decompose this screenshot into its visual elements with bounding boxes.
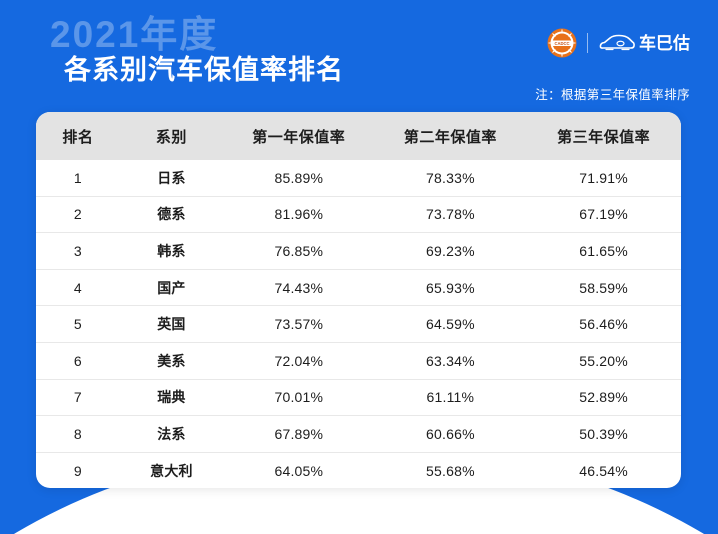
- cell-rank: 1: [36, 160, 120, 196]
- cell-year3: 50.39%: [526, 416, 681, 453]
- cell-rank: 8: [36, 416, 120, 453]
- ghost-year-label: 2021年度: [50, 16, 218, 53]
- column-header-brand: 系别: [120, 112, 223, 160]
- table-header-row: 排名 系别 第一年保值率 第二年保值率 第三年保值率: [36, 112, 681, 160]
- table-row: 6 美系 72.04% 63.34% 55.20%: [36, 342, 681, 379]
- cell-brand: 日系: [120, 160, 223, 196]
- cell-rank: 4: [36, 269, 120, 306]
- footnote-label: 注：根据第三年保值率排序: [535, 84, 690, 103]
- logo-divider: [587, 33, 588, 53]
- page-title: 各系别汽车保值率排名: [64, 57, 344, 84]
- column-header-year1: 第一年保值率: [223, 112, 375, 160]
- cell-year3: 58.59%: [526, 269, 681, 306]
- table-row: 7 瑞典 70.01% 61.11% 52.89%: [36, 379, 681, 416]
- ranking-table: 排名 系别 第一年保值率 第二年保值率 第三年保值率 1 日系 85.89% 7…: [36, 112, 681, 488]
- cell-year1: 64.05%: [223, 452, 375, 488]
- brand-name-label: 车巳估: [639, 35, 690, 52]
- column-header-rank: 排名: [36, 112, 120, 160]
- cell-brand: 德系: [120, 196, 223, 233]
- cell-year1: 76.85%: [223, 233, 375, 270]
- cell-year3: 55.20%: [526, 342, 681, 379]
- ranking-card: 排名 系别 第一年保值率 第二年保值率 第三年保值率 1 日系 85.89% 7…: [36, 112, 681, 488]
- cell-rank: 6: [36, 342, 120, 379]
- cell-year1: 70.01%: [223, 379, 375, 416]
- cell-year3: 61.65%: [526, 233, 681, 270]
- cell-year3: 67.19%: [526, 196, 681, 233]
- cell-year1: 73.57%: [223, 306, 375, 343]
- table-row: 2 德系 81.96% 73.78% 67.19%: [36, 196, 681, 233]
- cell-year2: 65.93%: [375, 269, 527, 306]
- table-row: 1 日系 85.89% 78.33% 71.91%: [36, 160, 681, 196]
- poster-root: 2021年度 各系别汽车保值率排名: [0, 0, 718, 534]
- table-row: 5 英国 73.57% 64.59% 56.46%: [36, 306, 681, 343]
- cell-year2: 69.23%: [375, 233, 527, 270]
- cell-year2: 64.59%: [375, 306, 527, 343]
- cell-year3: 52.89%: [526, 379, 681, 416]
- cell-year2: 61.11%: [375, 379, 527, 416]
- cell-year1: 67.89%: [223, 416, 375, 453]
- cell-year3: 71.91%: [526, 160, 681, 196]
- cell-brand: 美系: [120, 342, 223, 379]
- column-header-year3: 第三年保值率: [526, 112, 681, 160]
- table-row: 9 意大利 64.05% 55.68% 46.54%: [36, 452, 681, 488]
- table-body: 1 日系 85.89% 78.33% 71.91% 2 德系 81.96% 73…: [36, 160, 681, 488]
- cell-rank: 5: [36, 306, 120, 343]
- poster-header: 2021年度 各系别汽车保值率排名: [0, 0, 718, 110]
- column-header-year2: 第二年保值率: [375, 112, 527, 160]
- logo-row: CADCC 车巳估: [547, 28, 690, 58]
- car-outline-icon: [598, 33, 636, 53]
- cell-brand: 意大利: [120, 452, 223, 488]
- table-header: 排名 系别 第一年保值率 第二年保值率 第三年保值率: [36, 112, 681, 160]
- cell-brand: 英国: [120, 306, 223, 343]
- cadcc-seal-icon: CADCC: [547, 28, 577, 58]
- cell-brand: 法系: [120, 416, 223, 453]
- cell-year1: 72.04%: [223, 342, 375, 379]
- cell-rank: 9: [36, 452, 120, 488]
- table-row: 8 法系 67.89% 60.66% 50.39%: [36, 416, 681, 453]
- cell-year1: 81.96%: [223, 196, 375, 233]
- cell-brand: 国产: [120, 269, 223, 306]
- svg-text:CADCC: CADCC: [554, 41, 569, 46]
- cell-year3: 56.46%: [526, 306, 681, 343]
- cell-rank: 3: [36, 233, 120, 270]
- cell-year1: 74.43%: [223, 269, 375, 306]
- cell-rank: 7: [36, 379, 120, 416]
- cell-year1: 85.89%: [223, 160, 375, 196]
- cell-rank: 2: [36, 196, 120, 233]
- cell-year2: 63.34%: [375, 342, 527, 379]
- cell-year2: 55.68%: [375, 452, 527, 488]
- cell-brand: 韩系: [120, 233, 223, 270]
- table-row: 4 国产 74.43% 65.93% 58.59%: [36, 269, 681, 306]
- cell-year3: 46.54%: [526, 452, 681, 488]
- brand-logo: 车巳估: [598, 33, 690, 53]
- cell-year2: 78.33%: [375, 160, 527, 196]
- cell-year2: 60.66%: [375, 416, 527, 453]
- cell-brand: 瑞典: [120, 379, 223, 416]
- cell-year2: 73.78%: [375, 196, 527, 233]
- table-row: 3 韩系 76.85% 69.23% 61.65%: [36, 233, 681, 270]
